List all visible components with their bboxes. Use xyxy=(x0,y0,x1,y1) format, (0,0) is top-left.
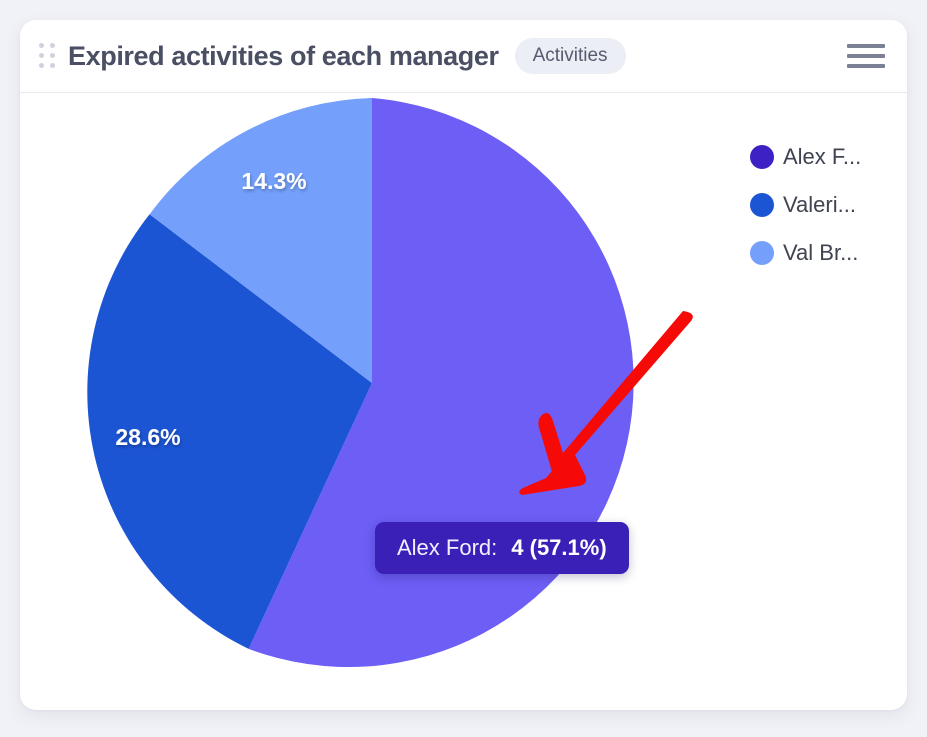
legend-dot-icon xyxy=(750,193,774,217)
legend-item-label: Val Br... xyxy=(783,240,858,266)
drag-dots-icon[interactable] xyxy=(38,41,56,71)
pie-chart-svg: 14.3% 28.6% xyxy=(20,93,720,709)
status-badge[interactable]: Activities xyxy=(515,38,626,74)
drag-dot xyxy=(39,53,44,58)
card-header: Expired activities of each manager Activ… xyxy=(20,20,907,93)
drag-dot xyxy=(50,43,55,48)
legend-item-val-br[interactable]: Val Br... xyxy=(750,229,900,277)
legend-item-alex-ford[interactable]: Alex F... xyxy=(750,133,900,181)
drag-dot xyxy=(39,63,44,68)
legend-item-valeria[interactable]: Valeri... xyxy=(750,181,900,229)
menu-bar xyxy=(847,44,885,48)
card-body: 14.3% 28.6% Alex F... Valeri... Val Br..… xyxy=(20,93,907,709)
hamburger-menu-icon[interactable] xyxy=(847,41,885,71)
legend-item-label: Alex F... xyxy=(783,144,861,170)
drag-dot xyxy=(39,43,44,48)
page-title: Expired activities of each manager xyxy=(68,41,499,72)
legend-dot-icon xyxy=(750,241,774,265)
chart-widget-card: Expired activities of each manager Activ… xyxy=(20,20,907,710)
menu-bar xyxy=(847,64,885,68)
legend-item-label: Valeri... xyxy=(783,192,856,218)
slice-percent-label-valeria: 28.6% xyxy=(115,424,180,450)
slice-percent-label-val-br: 14.3% xyxy=(241,168,306,194)
chart-legend: Alex F... Valeri... Val Br... xyxy=(750,133,900,277)
pie-chart[interactable]: 14.3% 28.6% xyxy=(20,93,720,709)
legend-dot-icon xyxy=(750,145,774,169)
drag-dot xyxy=(50,53,55,58)
drag-dot xyxy=(50,63,55,68)
menu-bar xyxy=(847,54,885,58)
